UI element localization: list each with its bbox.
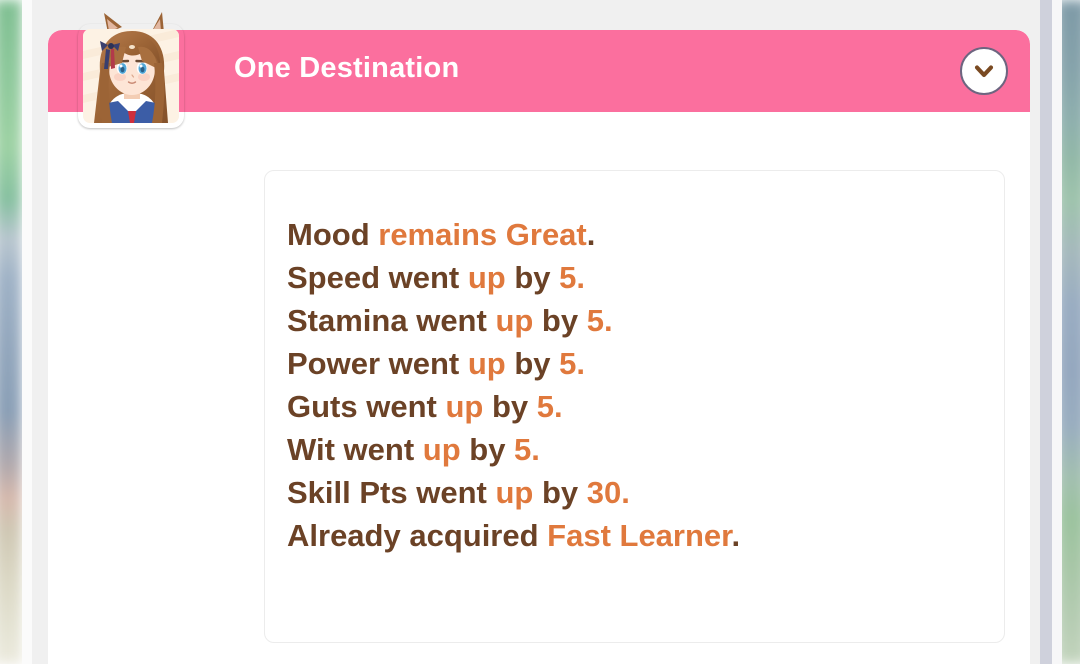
result-line: Power went up by 5. [287,342,986,385]
event-result-box: Mood remains Great.Speed went up by 5.St… [264,170,1005,643]
result-text: by [533,303,586,338]
result-highlight: up [445,389,483,424]
result-highlight: up [495,303,533,338]
result-text: Skill Pts went [287,475,495,510]
result-text: by [506,260,559,295]
result-highlight: 5. [559,260,585,295]
portrait-inner [83,29,179,123]
screen: One Destination Mood remains Great.Speed… [0,0,1080,664]
result-text: by [461,432,514,467]
result-highlight: remains Great [378,217,587,252]
result-line: Already acquired Fast Learner. [287,514,986,557]
result-line: Wit went up by 5. [287,428,986,471]
result-line: Speed went up by 5. [287,256,986,299]
result-text: by [506,346,559,381]
vertical-scrollbar-track[interactable] [1040,0,1052,664]
event-card-header [48,30,1030,112]
result-line: Stamina went up by 5. [287,299,986,342]
result-text: Stamina went [287,303,495,338]
result-text: Power went [287,346,468,381]
event-card: One Destination Mood remains Great.Speed… [48,30,1030,664]
result-text: by [533,475,586,510]
character-portrait[interactable] [78,24,184,128]
result-highlight: 5. [537,389,563,424]
result-text: Already acquired [287,518,547,553]
result-line: Guts went up by 5. [287,385,986,428]
result-highlight: 30. [587,475,630,510]
result-text: by [483,389,536,424]
result-text: . [587,217,596,252]
result-highlight: 5. [587,303,613,338]
portrait-artwork [78,11,184,123]
result-line: Skill Pts went up by 30. [287,471,986,514]
vertical-scrollbar-thumb[interactable] [1040,0,1052,664]
result-highlight: up [495,475,533,510]
result-highlight: 5. [514,432,540,467]
collapse-toggle-button[interactable] [960,47,1008,95]
window-gap-right [1052,0,1062,664]
result-text: Wit went [287,432,423,467]
result-highlight: Fast Learner [547,518,731,553]
result-highlight: up [423,432,461,467]
event-title: One Destination [234,52,459,85]
result-text: Guts went [287,389,445,424]
result-text: . [732,518,741,553]
result-highlight: up [468,346,506,381]
wallpaper-left-edge [0,0,22,664]
result-text: Speed went [287,260,468,295]
window-gap-left [22,0,32,664]
result-text: Mood [287,217,378,252]
result-highlight: up [468,260,506,295]
result-line: Mood remains Great. [287,213,986,256]
chevron-down-icon [971,58,997,84]
event-result-lines: Mood remains Great.Speed went up by 5.St… [287,213,986,557]
result-highlight: 5. [559,346,585,381]
